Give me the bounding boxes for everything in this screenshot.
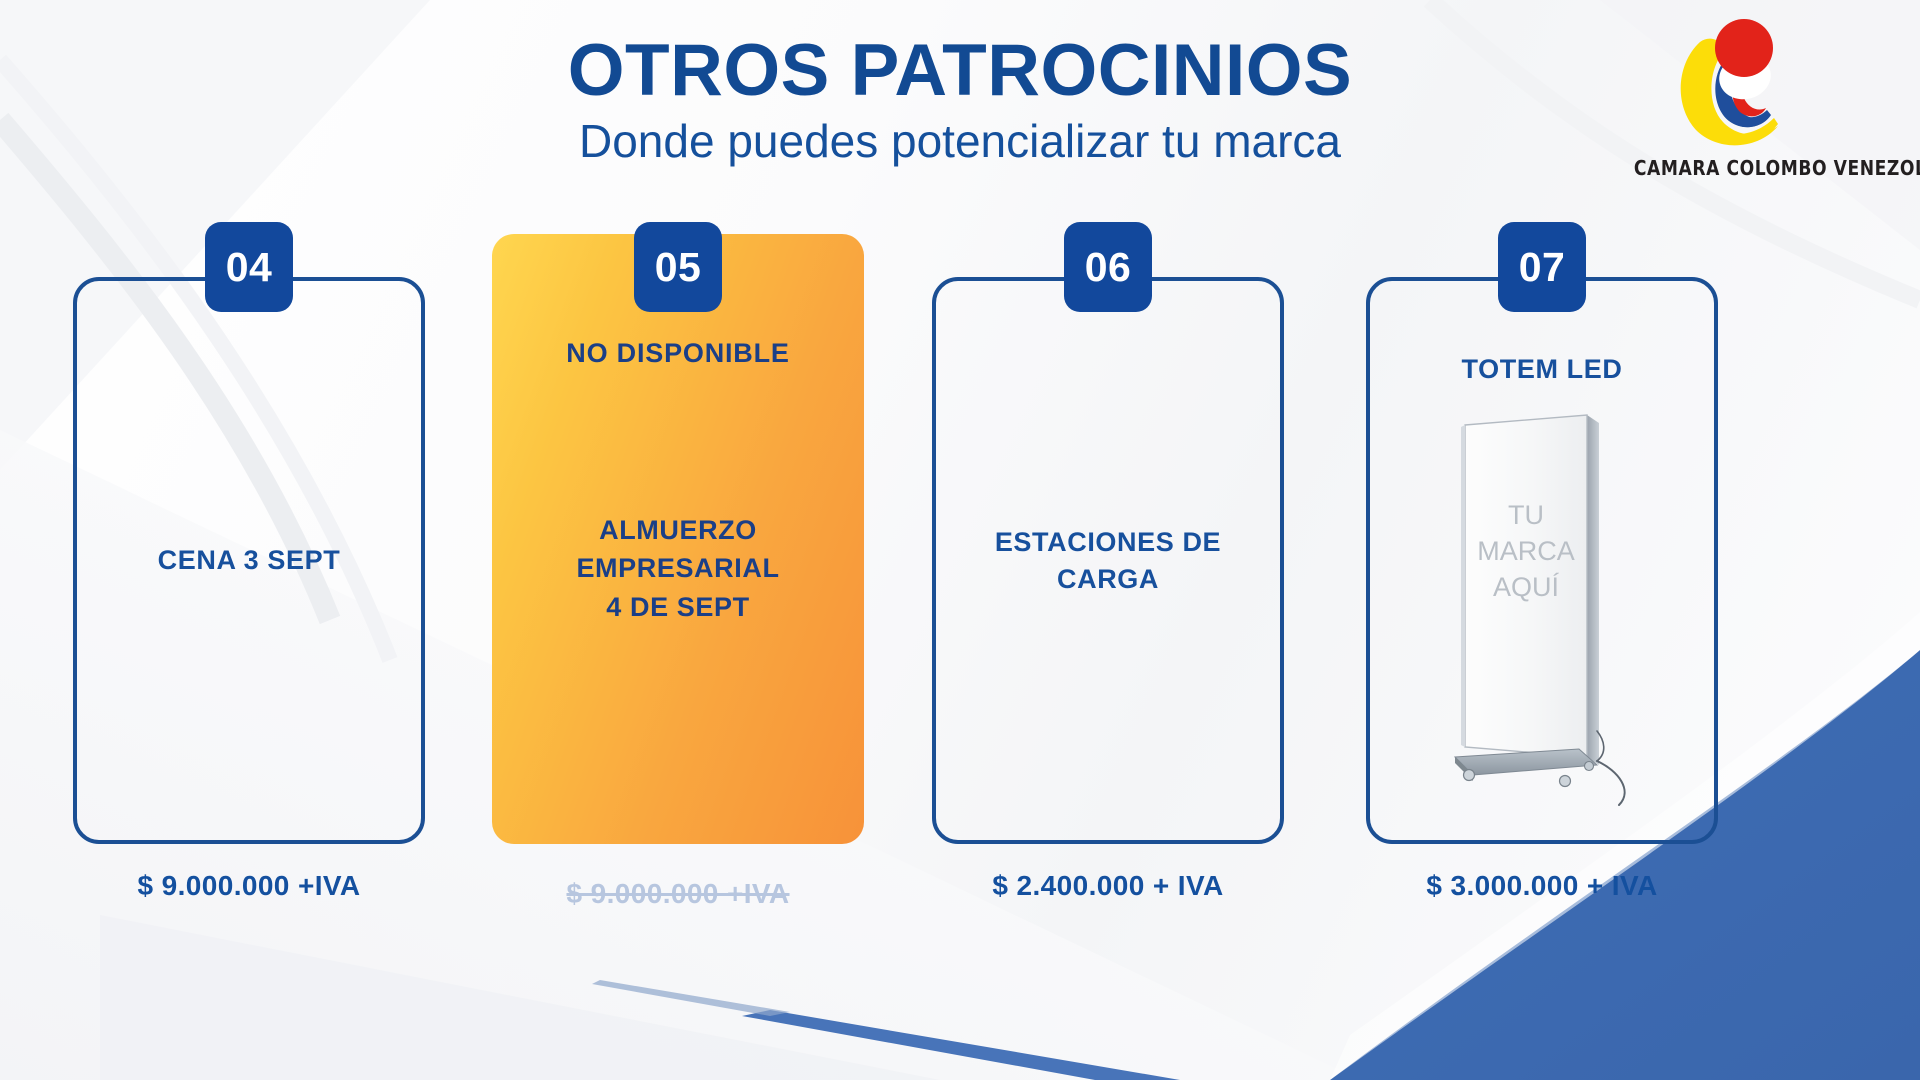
card-price: $ 9.000.000 +IVA	[63, 870, 435, 902]
card-price-struck: $ 9.000.000 +IVA	[492, 878, 864, 910]
banner-text-line: AQUÍ	[1493, 572, 1560, 602]
card-title: TOTEM LED	[1392, 351, 1692, 387]
card-title-line: ALMUERZO	[528, 511, 828, 549]
card-outline: ESTACIONES DE CARGA	[932, 277, 1284, 844]
sponsorship-card-06[interactable]: ESTACIONES DE CARGA 06 $ 2.400.000 + IVA	[922, 222, 1294, 962]
card-number-badge: 06	[1064, 222, 1152, 312]
sponsorship-card-05[interactable]: NO DISPONIBLE ALMUERZO EMPRESARIAL 4 DE …	[492, 222, 864, 962]
brand-logo: CAMARA COLOMBO VENEZOLANA	[1626, 14, 1852, 189]
card-number-badge: 07	[1498, 222, 1586, 312]
logo-wordmark: CAMARA COLOMBO VENEZOLANA	[1634, 156, 1844, 180]
sponsorship-cards: CENA 3 SEPT 04 $ 9.000.000 +IVA NO DISPO…	[0, 222, 1920, 962]
slide-canvas: OTROS PATROCINIOS Donde puedes potencial…	[0, 0, 1920, 1080]
card-title-line: CARGA	[958, 561, 1258, 597]
card-filled-panel: NO DISPONIBLE ALMUERZO EMPRESARIAL 4 DE …	[492, 234, 864, 844]
rollup-banner-stand-icon: TU MARCA AQUÍ	[1447, 409, 1637, 814]
banner-text-line: TU	[1508, 500, 1544, 530]
camara-colombo-venezolana-icon	[1626, 14, 1852, 154]
banner-text-line: MARCA	[1477, 536, 1575, 566]
status-badge: NO DISPONIBLE	[566, 338, 789, 369]
card-outline: CENA 3 SEPT	[73, 277, 425, 844]
card-price: $ 3.000.000 + IVA	[1356, 870, 1728, 902]
card-title: CENA 3 SEPT	[99, 542, 399, 578]
card-outline: TOTEM LED	[1366, 277, 1718, 844]
card-price: $ 2.400.000 + IVA	[922, 870, 1294, 902]
card-title: ALMUERZO EMPRESARIAL 4 DE SEPT	[528, 511, 828, 626]
card-title: ESTACIONES DE CARGA	[958, 524, 1258, 597]
card-title-line: EMPRESARIAL	[528, 549, 828, 587]
card-title-line: 4 DE SEPT	[528, 588, 828, 626]
card-number-badge: 04	[205, 222, 293, 312]
card-title-line: ESTACIONES DE	[958, 524, 1258, 560]
sponsorship-card-07[interactable]: TOTEM LED	[1356, 222, 1728, 962]
sponsorship-card-04[interactable]: CENA 3 SEPT 04 $ 9.000.000 +IVA	[63, 222, 435, 962]
card-number-badge: 05	[634, 222, 722, 312]
